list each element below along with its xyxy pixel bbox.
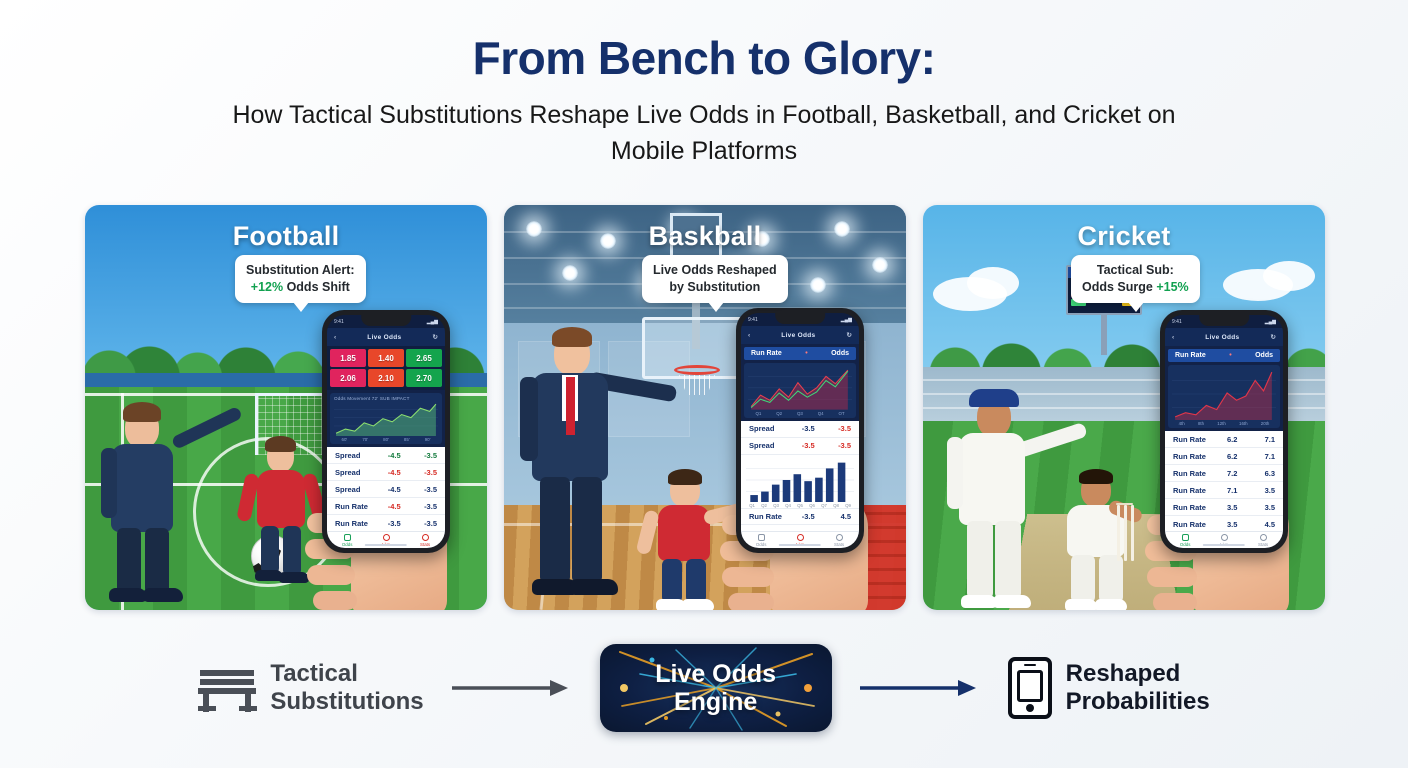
tab-label: Odds bbox=[756, 542, 767, 547]
row-value-1: 6.2 bbox=[1216, 452, 1249, 461]
rate-bar[interactable]: Run Rate • Odds bbox=[744, 347, 856, 360]
x-tick: 16th bbox=[1239, 421, 1248, 426]
table-row[interactable]: Run Rate -4.5 -3.5 bbox=[327, 498, 445, 515]
flow-label-engine: Live Odds Engine bbox=[655, 660, 776, 717]
row-value-1: -3.5 bbox=[792, 512, 825, 521]
phone-notch bbox=[361, 315, 411, 326]
refresh-icon[interactable]: ↻ bbox=[433, 333, 438, 341]
rate-value: Odds bbox=[1255, 352, 1273, 359]
home-indicator bbox=[1203, 544, 1245, 546]
row-value-1: -3.5 bbox=[378, 519, 411, 528]
live-dot-icon bbox=[797, 534, 804, 541]
status-time: 9:41 bbox=[334, 319, 344, 325]
bench-icon bbox=[198, 664, 256, 712]
shield-icon bbox=[758, 534, 765, 541]
row-value-1: -4.5 bbox=[378, 451, 411, 460]
phone-cricket[interactable]: 9:41 ▂▄▆ ‹ Live Odds ↻ Run Rate • Odds bbox=[1160, 310, 1288, 553]
x-tick: Q7 bbox=[821, 503, 827, 508]
page-title: From Bench to Glory: bbox=[0, 34, 1408, 82]
phone-screen-football[interactable]: 9:41 ▂▄▆ ‹ Live Odds ↻ 1.85 1.40 2.65 2.… bbox=[327, 315, 445, 548]
row-value-2: -3.5 bbox=[410, 519, 437, 528]
odds-rows-basketball[interactable]: Spread -3.5 -3.5 Spread -3.5 -3.5 bbox=[741, 421, 859, 531]
tab-odds[interactable]: Odds bbox=[1180, 534, 1191, 547]
odds-chart-football: Odds Movement 72' SUB IMPACT 60' 70' 80'… bbox=[330, 393, 442, 444]
row-value-1: 3.5 bbox=[1216, 503, 1249, 512]
phone-home-button bbox=[1026, 704, 1034, 712]
row-label: Spread bbox=[335, 485, 378, 494]
chart-x-axis: 4th 8th 12th 16th 20th bbox=[1172, 421, 1276, 426]
app-bar: ‹ Live Odds ↻ bbox=[327, 328, 445, 346]
status-signal: ▂▄▆ bbox=[1265, 319, 1276, 325]
flow-label-substitutions: Tactical Substitutions bbox=[270, 660, 423, 716]
live-dot-icon bbox=[383, 534, 390, 541]
tab-label: Odds bbox=[342, 542, 353, 547]
rate-value: Odds bbox=[831, 350, 849, 357]
x-tick: 85' bbox=[404, 437, 410, 442]
row-value-2: -3.5 bbox=[410, 485, 437, 494]
shield-icon bbox=[1182, 534, 1189, 541]
arena-light bbox=[562, 265, 578, 281]
x-tick: Q3 bbox=[773, 503, 779, 508]
x-tick: 12th bbox=[1217, 421, 1226, 426]
row-value-1: -3.5 bbox=[792, 441, 825, 450]
chart-svg bbox=[334, 401, 438, 436]
stats-icon bbox=[836, 534, 843, 541]
stump bbox=[1131, 505, 1134, 561]
panel-basketball[interactable]: Baskball Live Odds Reshaped by Substitut… bbox=[504, 205, 906, 610]
arena-light bbox=[810, 277, 826, 293]
status-time: 9:41 bbox=[1172, 319, 1182, 325]
table-row[interactable]: Run Rate 3.5 3.5 bbox=[1165, 499, 1283, 516]
live-dot-icon bbox=[1221, 534, 1228, 541]
odds-tile-grid[interactable]: 1.85 1.40 2.65 2.06 2.10 2.70 bbox=[327, 346, 445, 390]
phone-basketball[interactable]: 9:41 ▂▄▆ ‹ Live Odds ↻ Run Rate • Odds bbox=[736, 308, 864, 553]
table-row[interactable]: Spread -4.5 -3.5 bbox=[327, 447, 445, 464]
phone-screen-cricket[interactable]: 9:41 ▂▄▆ ‹ Live Odds ↻ Run Rate • Odds bbox=[1165, 315, 1283, 548]
cloud bbox=[967, 267, 1019, 299]
flow-label-line2: Substitutions bbox=[270, 688, 423, 716]
stats-icon bbox=[422, 534, 429, 541]
row-value-2: 7.1 bbox=[1248, 435, 1275, 444]
x-tick: Q2 bbox=[776, 411, 782, 416]
table-row[interactable]: Run Rate 6.2 7.1 bbox=[1165, 448, 1283, 465]
table-row[interactable]: Spread -4.5 -3.5 bbox=[327, 481, 445, 498]
arrow-right-icon-2 bbox=[858, 677, 982, 699]
x-tick: 80' bbox=[383, 437, 389, 442]
rate-label: Run Rate bbox=[1175, 352, 1206, 359]
tab-stats[interactable]: Stats bbox=[1258, 534, 1268, 547]
x-tick: Q3 bbox=[797, 411, 803, 416]
status-signal: ▂▄▆ bbox=[841, 317, 852, 323]
row-value-1: 7.1 bbox=[1216, 486, 1249, 495]
odds-tile[interactable]: 2.06 bbox=[330, 369, 366, 387]
callout-line1: Substitution Alert: bbox=[246, 263, 355, 277]
x-tick: 8th bbox=[1198, 421, 1204, 426]
panel-title-football: Football bbox=[85, 221, 487, 252]
tab-stats[interactable]: Stats bbox=[420, 534, 430, 547]
x-tick: Q6 bbox=[809, 503, 815, 508]
header: From Bench to Glory: How Tactical Substi… bbox=[0, 0, 1408, 169]
callout-line1: Live Odds Reshaped bbox=[653, 263, 777, 277]
x-tick: Q1 bbox=[755, 411, 761, 416]
home-indicator bbox=[779, 544, 821, 546]
table-row[interactable]: Spread -4.5 -3.5 bbox=[327, 464, 445, 481]
row-label: Run Rate bbox=[749, 512, 792, 521]
mobile-phone-icon bbox=[1008, 657, 1052, 719]
tab-label: Stats bbox=[420, 542, 430, 547]
odds-tile[interactable]: 2.70 bbox=[406, 369, 442, 387]
row-value-1: -4.5 bbox=[378, 468, 411, 477]
odds-chart-basketball: Q1 Q2 Q3 Q4 OT bbox=[744, 363, 856, 418]
stump bbox=[1124, 505, 1127, 561]
stump bbox=[1117, 505, 1120, 561]
row-label: Run Rate bbox=[1173, 520, 1216, 529]
arrow-svg bbox=[450, 677, 574, 699]
x-tick: 70' bbox=[362, 437, 368, 442]
odds-tile[interactable]: 2.10 bbox=[368, 369, 404, 387]
callout-line2: Odds Shift bbox=[287, 280, 350, 294]
odds-tile[interactable]: 1.40 bbox=[368, 349, 404, 367]
arena-light bbox=[872, 257, 888, 273]
cloud bbox=[1263, 261, 1315, 291]
flow-label-line1: Reshaped bbox=[1066, 660, 1210, 688]
arrow-svg bbox=[858, 677, 982, 699]
row-label: Run Rate bbox=[335, 519, 378, 528]
rate-label: Run Rate bbox=[751, 350, 782, 357]
row-value-2: 4.5 bbox=[1248, 520, 1275, 529]
flow-node-probabilities[interactable]: Reshaped Probabilities bbox=[1008, 657, 1210, 719]
row-value-2: 4.5 bbox=[824, 512, 851, 521]
row-value-1: -4.5 bbox=[378, 502, 411, 511]
table-row[interactable]: Run Rate 3.5 4.5 bbox=[1165, 516, 1283, 531]
row-label: Spread bbox=[335, 468, 378, 477]
row-value-2: 3.5 bbox=[1248, 503, 1275, 512]
panel-football[interactable]: Football Substitution Alert: +12% Odds S… bbox=[85, 205, 487, 610]
panel-title-basketball: Baskball bbox=[504, 221, 906, 252]
engine-line1: Live Odds bbox=[655, 660, 776, 689]
table-row[interactable]: Spread -3.5 -3.5 bbox=[741, 421, 859, 438]
tab-label: Odds bbox=[1180, 542, 1191, 547]
arrow-right-icon-1 bbox=[450, 677, 574, 699]
callout-line2: by Substitution bbox=[669, 280, 760, 294]
row-value-2: 7.1 bbox=[1248, 452, 1275, 461]
table-row[interactable]: Run Rate -3.5 4.5 bbox=[741, 508, 859, 525]
phone-screen-basketball[interactable]: 9:41 ▂▄▆ ‹ Live Odds ↻ Run Rate • Odds bbox=[741, 313, 859, 548]
table-row[interactable]: Run Rate 7.2 6.3 bbox=[1165, 465, 1283, 482]
phone-notch bbox=[1199, 315, 1249, 326]
callout-cricket: Tactical Sub: Odds Surge +15% bbox=[1071, 255, 1200, 303]
row-label: Spread bbox=[335, 451, 378, 460]
chevron-left-icon[interactable]: ‹ bbox=[748, 332, 750, 339]
flow-label-line2: Probabilities bbox=[1066, 688, 1210, 716]
flow-node-substitutions[interactable]: Tactical Substitutions bbox=[198, 660, 423, 716]
row-label: Run Rate bbox=[1173, 452, 1216, 461]
x-tick: 4th bbox=[1179, 421, 1185, 426]
row-value-1: 6.2 bbox=[1216, 435, 1249, 444]
row-value-2: -3.5 bbox=[824, 424, 851, 433]
callout-highlight: +15% bbox=[1156, 280, 1188, 294]
odds-rows-cricket[interactable]: Run Rate 6.2 7.1 Run Rate 6.2 7.1 Run Ra… bbox=[1165, 431, 1283, 531]
x-tick: Q8 bbox=[833, 503, 839, 508]
callout-football: Substitution Alert: +12% Odds Shift bbox=[235, 255, 366, 303]
odds-rows-football[interactable]: Spread -4.5 -3.5 Spread -4.5 -3.5 Spread… bbox=[327, 447, 445, 531]
row-value-2: -3.5 bbox=[410, 468, 437, 477]
table-row[interactable]: Run Rate 7.1 3.5 bbox=[1165, 482, 1283, 499]
flow-label-line1: Tactical bbox=[270, 660, 423, 688]
x-tick: 90' bbox=[425, 437, 431, 442]
x-tick: Q4 bbox=[785, 503, 791, 508]
row-value-2: 3.5 bbox=[1248, 486, 1275, 495]
sport-panels: Football Substitution Alert: +12% Odds S… bbox=[85, 205, 1325, 610]
panel-title-cricket: Cricket bbox=[923, 221, 1325, 252]
row-value-1: 7.2 bbox=[1216, 469, 1249, 478]
engine-line2: Engine bbox=[655, 688, 776, 717]
shield-icon bbox=[344, 534, 351, 541]
row-label: Run Rate bbox=[1173, 469, 1216, 478]
app-bar: ‹ Live Odds ↻ bbox=[1165, 328, 1283, 346]
row-value-1: -3.5 bbox=[792, 424, 825, 433]
status-time: 9:41 bbox=[748, 317, 758, 323]
phone-notch bbox=[775, 313, 825, 324]
tab-label: Stats bbox=[1258, 542, 1268, 547]
cricket-cap bbox=[969, 389, 1019, 407]
live-dot-icon: • bbox=[805, 350, 807, 357]
chart-svg bbox=[748, 366, 852, 410]
stats-icon bbox=[1260, 534, 1267, 541]
football-coach bbox=[95, 400, 255, 610]
process-flow: Tactical Substitutions bbox=[0, 628, 1408, 748]
odds-tile[interactable]: 1.85 bbox=[330, 349, 366, 367]
x-tick: Q4 bbox=[818, 411, 824, 416]
page-subtitle: How Tactical Substitutions Reshape Live … bbox=[214, 98, 1194, 169]
x-tick: Q2 bbox=[761, 503, 767, 508]
x-tick: Q5 bbox=[797, 503, 803, 508]
table-row[interactable]: Spread -3.5 -3.5 bbox=[741, 438, 859, 455]
row-label: Spread bbox=[749, 441, 792, 450]
app-title: Live Odds bbox=[1174, 334, 1270, 341]
callout-line1: Tactical Sub: bbox=[1097, 263, 1174, 277]
refresh-icon[interactable]: ↻ bbox=[1271, 333, 1276, 341]
app-title: Live Odds bbox=[750, 332, 846, 339]
row-value-2: -3.5 bbox=[410, 451, 437, 460]
tab-odds[interactable]: Odds bbox=[756, 534, 767, 547]
tab-stats[interactable]: Stats bbox=[834, 534, 844, 547]
tab-odds[interactable]: Odds bbox=[342, 534, 353, 547]
table-row[interactable]: Run Rate -3.5 -3.5 bbox=[327, 515, 445, 531]
flow-label-probabilities: Reshaped Probabilities bbox=[1066, 660, 1210, 716]
row-label: Run Rate bbox=[1173, 503, 1216, 512]
scoreboard-post bbox=[1101, 315, 1107, 355]
tab-label: Stats bbox=[834, 542, 844, 547]
chart-x-axis: Q1 Q2 Q3 Q4 OT bbox=[748, 411, 852, 416]
status-signal: ▂▄▆ bbox=[427, 319, 438, 325]
row-value-1: -4.5 bbox=[378, 485, 411, 494]
phone-speaker bbox=[1024, 664, 1036, 666]
odds-chart-cricket: 4th 8th 12th 16th 20th bbox=[1168, 365, 1280, 428]
callout-basketball: Live Odds Reshaped by Substitution bbox=[642, 255, 788, 303]
row-label: Run Rate bbox=[335, 502, 378, 511]
chart-svg bbox=[1172, 368, 1276, 420]
bar-chart-basketball: Q1 Q2 Q3 Q4 Q5 Q6 Q7 Q8 Q9 bbox=[741, 455, 859, 508]
x-tick: 20th bbox=[1261, 421, 1270, 426]
odds-tile[interactable]: 2.65 bbox=[406, 349, 442, 367]
refresh-icon[interactable]: ↻ bbox=[847, 331, 852, 339]
chart-x-axis: 60' 70' 80' 85' 90' bbox=[334, 437, 438, 442]
x-tick: 60' bbox=[342, 437, 348, 442]
row-value-2: 6.3 bbox=[1248, 469, 1275, 478]
bar-x-axis: Q1 Q2 Q3 Q4 Q5 Q6 Q7 Q8 Q9 bbox=[746, 503, 854, 508]
panel-cricket[interactable]: Cricket Tactical Sub: Odds Surge +15% 9:… bbox=[923, 205, 1325, 610]
x-tick: Q1 bbox=[749, 503, 755, 508]
chevron-left-icon[interactable]: ‹ bbox=[1172, 334, 1174, 341]
rate-bar[interactable]: Run Rate • Odds bbox=[1168, 349, 1280, 362]
chevron-left-icon[interactable]: ‹ bbox=[334, 334, 336, 341]
table-row[interactable]: Run Rate 6.2 7.1 bbox=[1165, 431, 1283, 448]
row-label: Run Rate bbox=[1173, 435, 1216, 444]
callout-highlight: +12% bbox=[251, 280, 283, 294]
bar-chart-svg bbox=[746, 458, 854, 502]
row-value-1: 3.5 bbox=[1216, 520, 1249, 529]
row-value-2: -3.5 bbox=[410, 502, 437, 511]
live-dot-icon: • bbox=[1229, 352, 1231, 359]
app-title: Live Odds bbox=[336, 334, 432, 341]
callout-line2: Odds Surge bbox=[1082, 280, 1153, 294]
app-bar: ‹ Live Odds ↻ bbox=[741, 326, 859, 344]
phone-football[interactable]: 9:41 ▂▄▆ ‹ Live Odds ↻ 1.85 1.40 2.65 2.… bbox=[322, 310, 450, 553]
row-value-2: -3.5 bbox=[824, 441, 851, 450]
row-label: Run Rate bbox=[1173, 486, 1216, 495]
row-label: Spread bbox=[749, 424, 792, 433]
x-tick: Q9 bbox=[845, 503, 851, 508]
stump-bail bbox=[1116, 503, 1133, 505]
home-indicator bbox=[365, 544, 407, 546]
phone-screen-shape bbox=[1017, 670, 1043, 702]
x-tick: OT bbox=[838, 411, 844, 416]
flow-node-engine[interactable]: Live Odds Engine bbox=[600, 644, 832, 732]
